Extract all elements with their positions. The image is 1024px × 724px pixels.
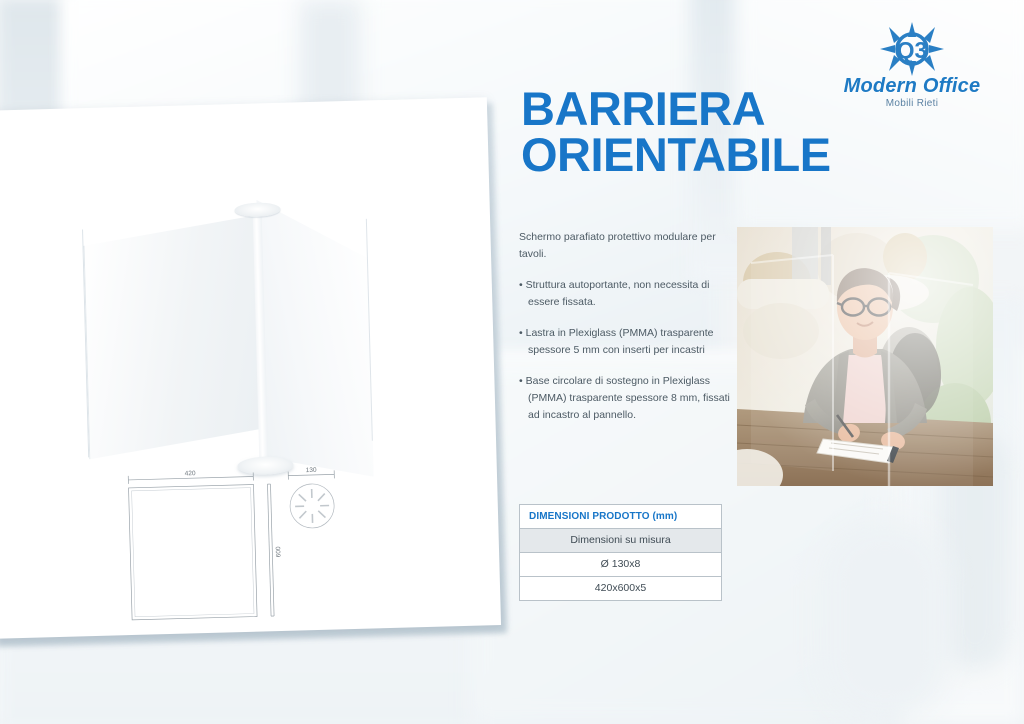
table-row: Ø 130x8 [520, 553, 721, 577]
intro-text: Schermo parafiato protettivo modulare pe… [519, 229, 729, 263]
sunburst-q3-icon: Q3 [876, 20, 948, 78]
table-row: Dimensioni su misura [520, 529, 721, 553]
bullet-marker: • [519, 279, 523, 291]
title-line-1: BARRIERA [521, 82, 765, 135]
title-line-2: ORIENTABILE [521, 132, 991, 178]
lifestyle-photo [737, 227, 993, 486]
bullet-marker: • [519, 327, 523, 339]
list-item: • Base circolare di sostegno in Plexigla… [519, 373, 734, 424]
barrier-panel-left [83, 215, 265, 460]
page-title: BARRIERA ORIENTABILE [521, 86, 991, 178]
dim-width-label: 420 [185, 470, 196, 477]
svg-text:Q3: Q3 [897, 37, 928, 63]
product-render [0, 113, 505, 486]
dimensions-table: DIMENSIONI PRODOTTO (mm) Dimensioni su m… [519, 504, 722, 601]
bullet-marker: • [519, 375, 523, 387]
table-row: 420x600x5 [520, 577, 721, 600]
list-item-label: Base circolare di sostegno in Plexiglass… [526, 375, 730, 421]
list-item: • Struttura autoportante, non necessita … [519, 277, 734, 311]
table-header: DIMENSIONI PRODOTTO (mm) [520, 505, 721, 529]
technical-drawing: 420 130 600 [120, 452, 355, 628]
dim-diameter-label: 130 [306, 467, 317, 474]
list-item: • Lastra in Plexiglass (PMMA) trasparent… [519, 325, 734, 359]
datasheet-page: 420 130 600 Q3 Modern Office Mobili Riet… [0, 0, 1024, 724]
feature-list: • Struttura autoportante, non necessita … [519, 277, 734, 438]
list-item-label: Lastra in Plexiglass (PMMA) trasparente … [526, 327, 714, 356]
barrier-panel-right [256, 197, 374, 480]
dim-height-label: 600 [275, 546, 282, 557]
list-item-label: Struttura autoportante, non necessita di… [526, 279, 710, 308]
